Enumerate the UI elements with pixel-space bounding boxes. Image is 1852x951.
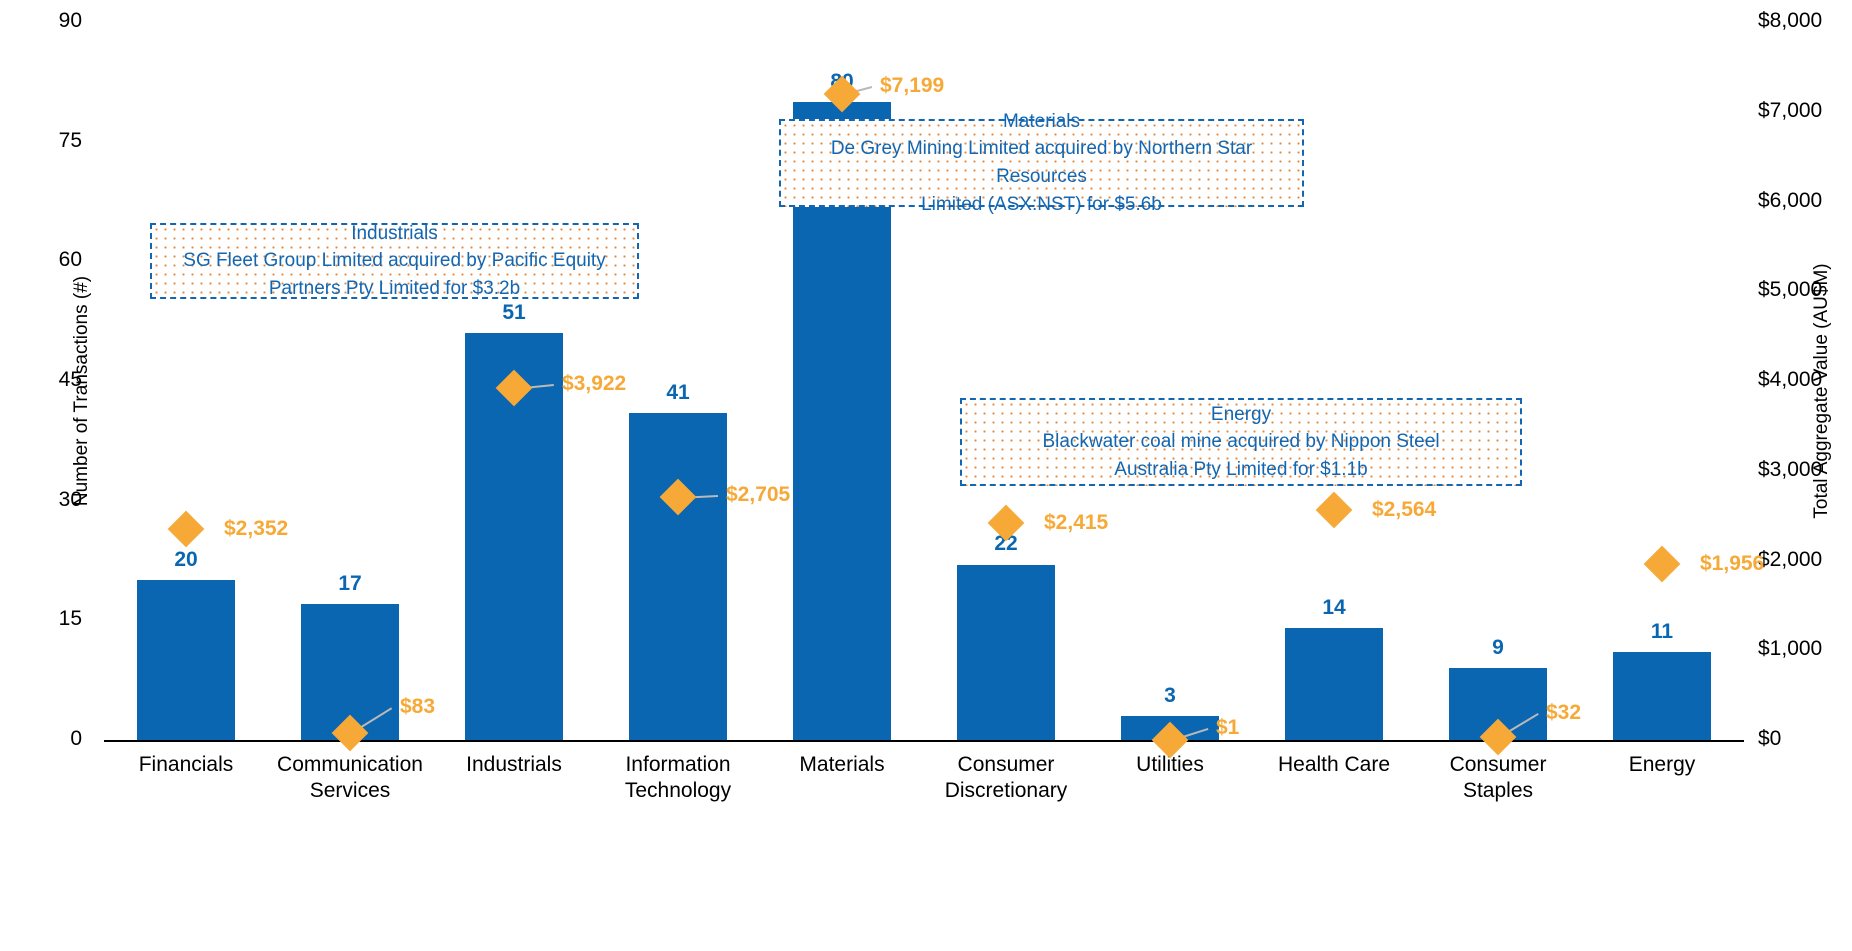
marker-value-label-6: $1 xyxy=(1216,716,1239,740)
bar-value-label-3: 41 xyxy=(666,381,689,405)
callout-materials-line-2: Limited (ASX:NST) for $5.6b xyxy=(791,191,1292,219)
marker-value-label-0: $2,352 xyxy=(224,517,288,541)
y-tick-right-7: $7,000 xyxy=(1758,99,1852,123)
x-label-financials: Financials xyxy=(139,752,234,778)
callout-materials-line-0: Materials xyxy=(791,108,1292,136)
y-tick-left-4: 60 xyxy=(20,248,82,272)
y-tick-right-8: $8,000 xyxy=(1758,9,1852,33)
bar-value-label-9: 11 xyxy=(1651,620,1673,644)
marker-value-label-8: $32 xyxy=(1546,701,1581,725)
y-tick-left-3: 45 xyxy=(20,368,82,392)
bar-financials[interactable] xyxy=(137,580,235,740)
x-label-industrials: Industrials xyxy=(466,752,562,778)
chart-canvas: Number of Transactions (#) Total Aggrega… xyxy=(0,0,1852,951)
bar-value-label-7: 14 xyxy=(1322,596,1345,620)
callout-industrials-line-1: SG Fleet Group Limited acquired by Pacif… xyxy=(162,247,627,275)
marker-value-label-9: $1,956 xyxy=(1700,552,1764,576)
callout-energy[interactable]: EnergyBlackwater coal mine acquired by N… xyxy=(960,398,1522,486)
marker-value-label-2: $3,922 xyxy=(562,372,626,396)
marker-value-label-7: $2,564 xyxy=(1372,498,1436,522)
y-tick-right-6: $6,000 xyxy=(1758,189,1852,213)
x-label-consumer-staples: Consumer Staples xyxy=(1450,752,1547,803)
bar-value-label-0: 20 xyxy=(174,548,197,572)
x-label-consumer-discretionary: Consumer Discretionary xyxy=(945,752,1068,803)
y-tick-left-1: 15 xyxy=(20,607,82,631)
y-tick-right-4: $4,000 xyxy=(1758,368,1852,392)
callout-materials-line-1: De Grey Mining Limited acquired by North… xyxy=(791,135,1292,190)
bar-energy[interactable] xyxy=(1613,652,1711,740)
bar-value-label-8: 9 xyxy=(1492,636,1504,660)
marker-value-label-4: $7,199 xyxy=(880,74,944,98)
y-tick-right-1: $1,000 xyxy=(1758,637,1852,661)
y-tick-right-3: $3,000 xyxy=(1758,458,1852,482)
callout-industrials-line-2: Partners Pty Limited for $3.2b xyxy=(162,275,627,303)
y-tick-left-5: 75 xyxy=(20,129,82,153)
bar-information-technology[interactable] xyxy=(629,413,727,740)
callout-materials[interactable]: MaterialsDe Grey Mining Limited acquired… xyxy=(779,119,1304,207)
marker-value-label-1: $83 xyxy=(400,695,435,719)
y-tick-left-0: 0 xyxy=(20,727,82,751)
x-label-information-technology: Information Technology xyxy=(625,752,731,803)
y-tick-right-0: $0 xyxy=(1758,727,1852,751)
marker-value-label-3: $2,705 xyxy=(726,483,790,507)
x-label-materials: Materials xyxy=(799,752,884,778)
y-tick-left-2: 30 xyxy=(20,488,82,512)
bar-value-label-1: 17 xyxy=(338,572,361,596)
callout-energy-line-0: Energy xyxy=(972,401,1510,429)
bar-value-label-6: 3 xyxy=(1164,684,1176,708)
y-tick-left-6: 90 xyxy=(20,9,82,33)
marker-value-label-5: $2,415 xyxy=(1044,511,1108,535)
callout-energy-line-2: Australia Pty Limited for $1.1b xyxy=(972,456,1510,484)
x-label-energy: Energy xyxy=(1629,752,1696,778)
bar-health-care[interactable] xyxy=(1285,628,1383,740)
callout-energy-line-1: Blackwater coal mine acquired by Nippon … xyxy=(972,428,1510,456)
callout-industrials-line-0: Industrials xyxy=(162,220,627,248)
x-label-communication-services: Communication Services xyxy=(277,752,423,803)
bar-consumer-discretionary[interactable] xyxy=(957,565,1055,741)
x-label-health-care: Health Care xyxy=(1278,752,1390,778)
y-tick-right-5: $5,000 xyxy=(1758,278,1852,302)
y-tick-right-2: $2,000 xyxy=(1758,548,1852,572)
bar-value-label-2: 51 xyxy=(502,301,525,325)
callout-industrials[interactable]: IndustrialsSG Fleet Group Limited acquir… xyxy=(150,223,639,299)
